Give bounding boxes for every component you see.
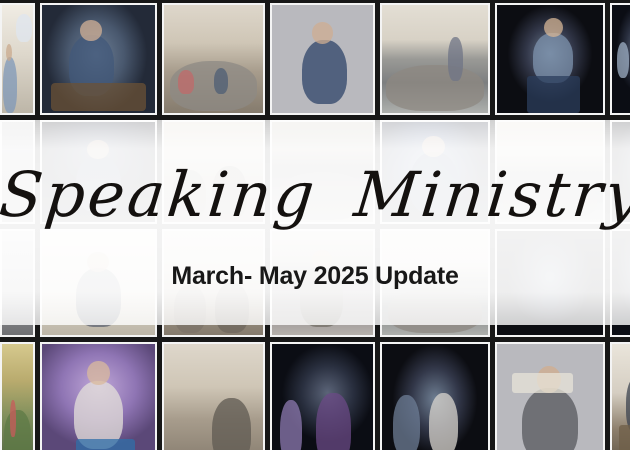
- collage-tile-speaker-dark-stage-podium: [495, 3, 605, 115]
- subtitle-date-range: March- May 2025 Update: [0, 262, 630, 291]
- collage-tile-speaker-wooden-pulpit-church: [610, 342, 630, 450]
- collage-tile-hands-lifted-worship: [270, 342, 375, 450]
- collage-tile-speaker-blue-stage-lights: [270, 3, 375, 115]
- title-word-ministry: Ministry: [351, 158, 630, 231]
- collage-tile-banner-el-shaddai: [0, 3, 35, 115]
- collage-tile-prayer-circle-masks: [162, 342, 265, 450]
- title-word-speaking: Speaking: [0, 158, 321, 231]
- collage-tile-seated-congregation-chairs: [162, 3, 265, 115]
- page-title: SpeakingMinistry: [0, 158, 630, 231]
- collage-tile-speaker-brick-wall-hoodie: [495, 342, 605, 450]
- collage-tile-tent-meeting-crowd: [0, 342, 35, 450]
- collage-tile-speaker-purple-backdrop: [40, 342, 157, 450]
- collage-tile-speaker-at-wooden-pulpit: [40, 3, 157, 115]
- speaking-ministry-poster: SpeakingMinistry March- May 2025 Update: [0, 0, 630, 450]
- collage-tile-two-men-at-lectern: [380, 342, 490, 450]
- collage-tile-audience-in-hall: [380, 3, 490, 115]
- collage-tile-wide-auditorium-view: [610, 3, 630, 115]
